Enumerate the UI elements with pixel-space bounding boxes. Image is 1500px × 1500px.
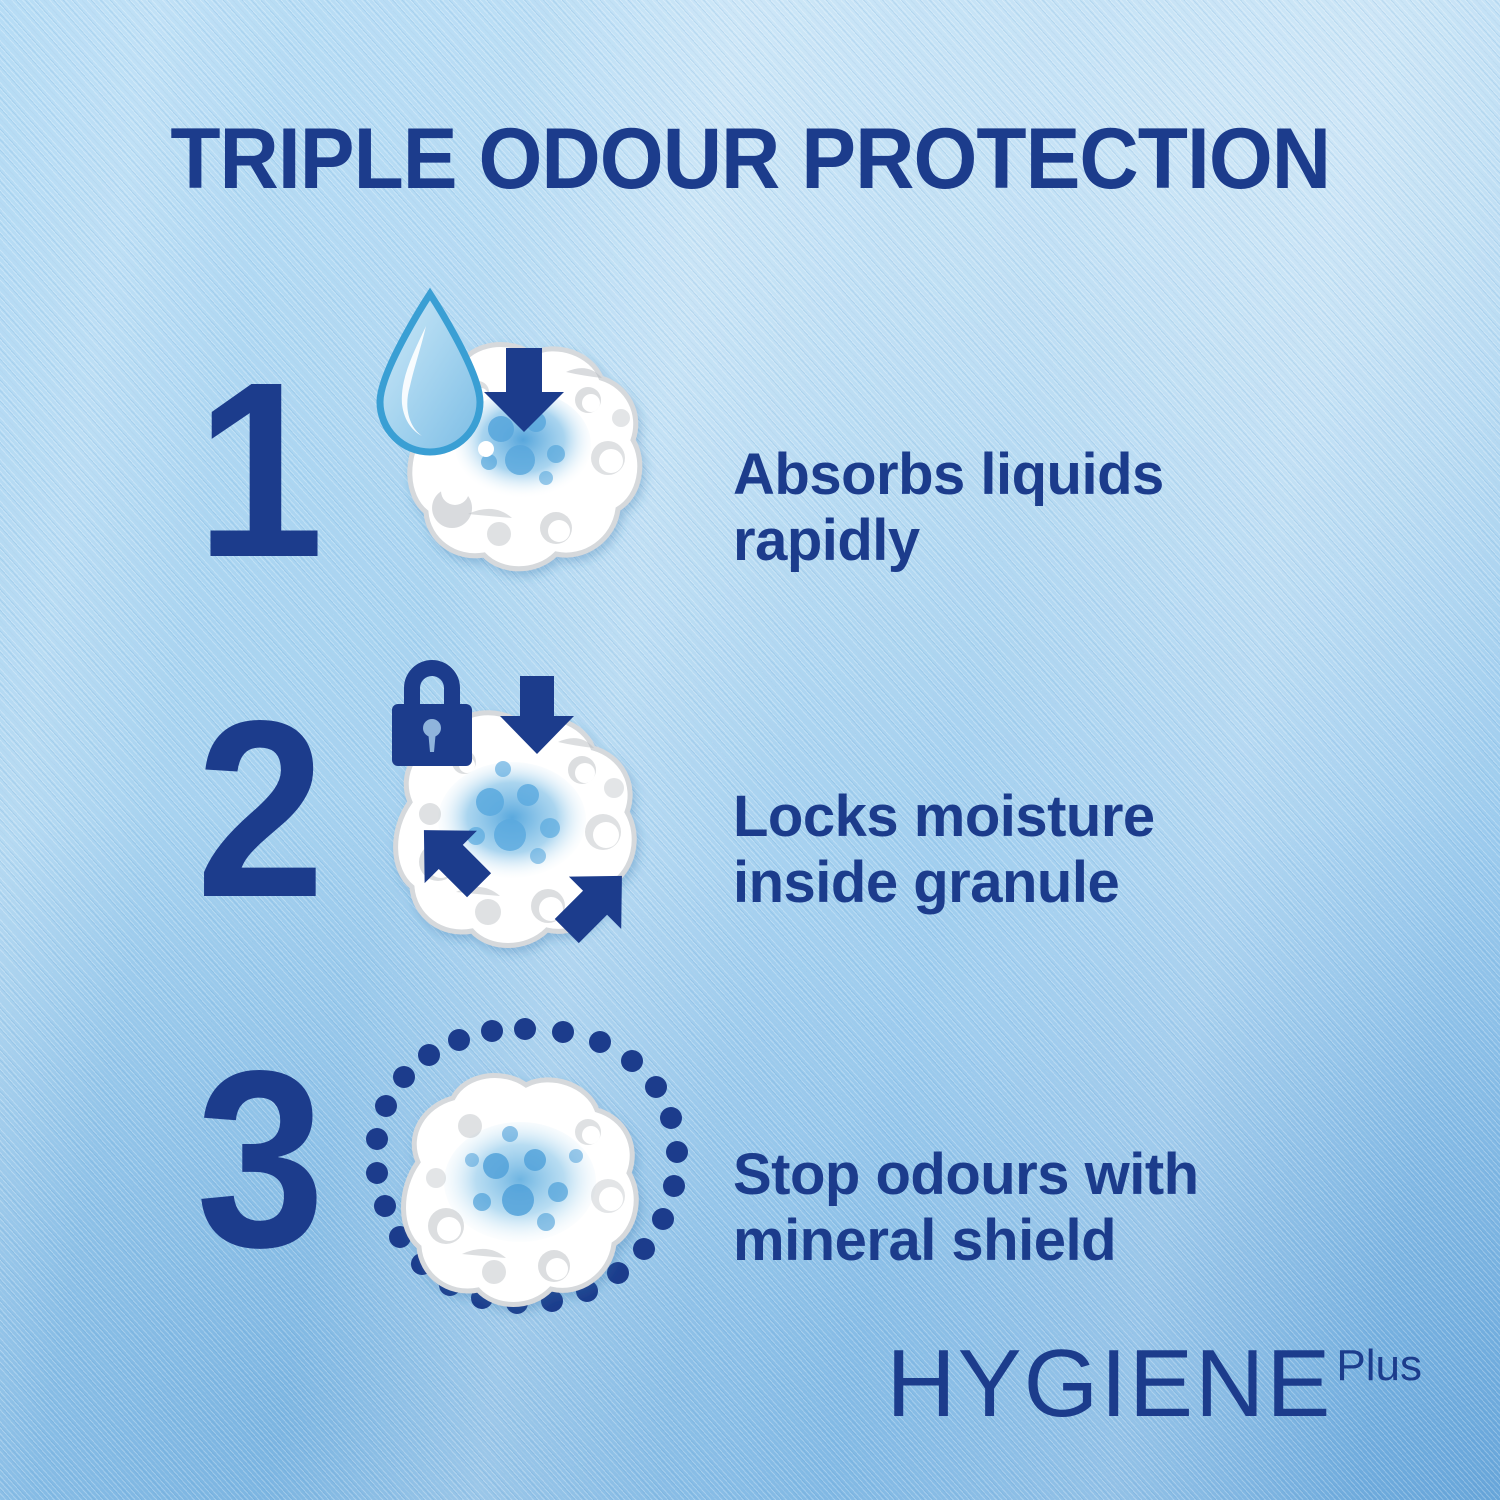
step-2-caption: Locks moisture inside granule — [733, 700, 1353, 1000]
granule-with-lock-graphic — [360, 630, 690, 990]
step-3-caption-line-1: Stop odours with — [733, 1142, 1353, 1208]
step-number-2: 2 — [196, 660, 371, 960]
step-3-caption-line-2: mineral shield — [733, 1208, 1353, 1274]
granule-with-shield-graphic — [360, 1010, 690, 1370]
brand-logo: HYGIENE Plus — [886, 1340, 1422, 1428]
step-row-2: 2 — [0, 660, 1500, 960]
page-title: TRIPLE ODOUR PROTECTION — [0, 116, 1500, 202]
brand-logo-name: HYGIENE — [886, 1340, 1332, 1428]
step-2-caption-line-2: inside granule — [733, 850, 1353, 916]
step-1-caption: Absorbs liquids rapidly — [733, 358, 1353, 658]
brand-logo-suffix: Plus — [1336, 1344, 1422, 1388]
step-row-1: 1 — [0, 320, 1500, 620]
padlock-icon — [392, 660, 472, 766]
step-number-1: 1 — [196, 320, 371, 620]
step-1-caption-line-1: Absorbs liquids — [733, 442, 1353, 508]
page-title-text: TRIPLE ODOUR PROTECTION — [170, 116, 1330, 202]
step-3-illustration — [360, 1010, 690, 1370]
infographic-canvas: TRIPLE ODOUR PROTECTION 1 — [0, 0, 1500, 1500]
granule-with-droplet-graphic — [360, 282, 690, 642]
granule-icon — [403, 1075, 636, 1304]
step-2-illustration — [360, 630, 690, 990]
step-3-caption: Stop odours with mineral shield — [733, 1058, 1353, 1358]
step-number-3: 3 — [196, 1010, 371, 1310]
step-row-3: 3 — [0, 1010, 1500, 1310]
step-2-caption-line-1: Locks moisture — [733, 784, 1353, 850]
step-1-caption-line-2: rapidly — [733, 508, 1353, 574]
step-1-illustration — [360, 282, 690, 642]
water-droplet-icon — [380, 294, 480, 452]
